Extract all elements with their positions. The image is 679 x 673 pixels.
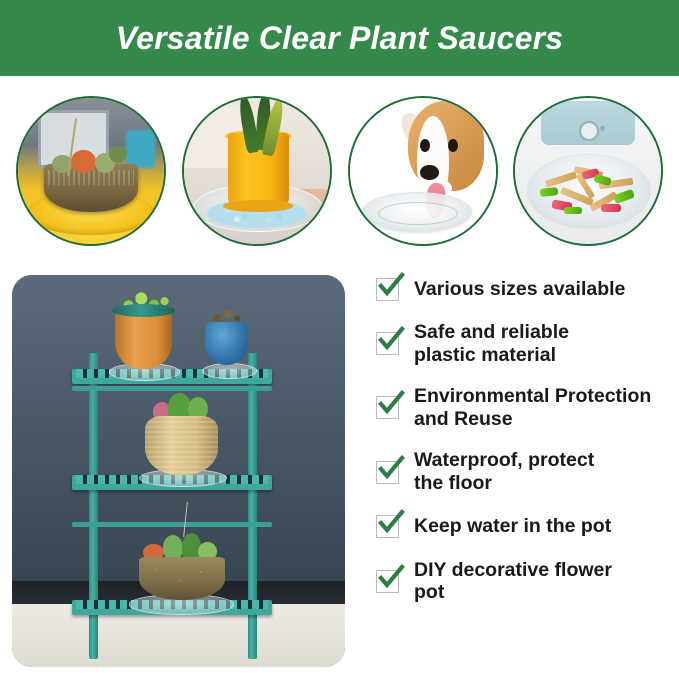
clear-saucer-shape — [362, 192, 472, 232]
checkmark-icon — [376, 396, 399, 419]
tan-pot-shape — [145, 416, 218, 475]
succulent-cluster — [50, 145, 132, 174]
feature-label: Keep water in the pot — [414, 515, 611, 538]
feature-label: DIY decorative flower pot — [414, 559, 612, 604]
pot-base-shape — [223, 200, 293, 212]
appliance-indicator-shape — [600, 126, 605, 131]
feature-label: Various sizes available — [414, 278, 625, 301]
checkmark-icon — [376, 332, 399, 355]
circle-photo-art — [184, 98, 330, 244]
page-title: Versatile Clear Plant Saucers — [116, 20, 564, 57]
plant-stand-rail — [72, 522, 272, 527]
header-banner: Versatile Clear Plant Saucers — [0, 0, 679, 76]
feature-item: Keep water in the pot — [376, 514, 676, 540]
feature-item: Environmental Protection and Reuse — [376, 385, 676, 430]
stone-bowl-shape — [139, 557, 226, 600]
circle-photo-strip — [0, 88, 679, 248]
feature-label: Safe and reliable plastic material — [414, 321, 569, 366]
main-product-photo — [12, 275, 345, 667]
checkmark-icon — [376, 515, 399, 538]
circle-photo-art — [18, 98, 164, 244]
clear-saucer-shape — [527, 154, 652, 229]
feature-list: Various sizes available Safe and reliabl… — [376, 276, 676, 623]
circle-photo-snack-tray — [513, 96, 663, 246]
dog-eye-shape — [448, 139, 458, 152]
circle-photo-yellow-pot — [182, 96, 332, 246]
circle-photo-succulent-bowl — [16, 96, 166, 246]
feature-item: Waterproof, protect the floor — [376, 449, 676, 494]
feature-item: Safe and reliable plastic material — [376, 321, 676, 366]
circle-photo-dog-drinking — [348, 96, 498, 246]
blue-pot-shape — [205, 322, 248, 365]
checkmark-icon — [376, 278, 399, 301]
feature-item: Various sizes available — [376, 276, 676, 302]
feature-label: Waterproof, protect the floor — [414, 449, 594, 494]
circle-photo-art — [350, 98, 496, 244]
dog-nose-shape — [420, 165, 439, 180]
feature-label: Environmental Protection and Reuse — [414, 385, 651, 430]
checkmark-icon — [376, 570, 399, 593]
circle-photo-art — [515, 98, 661, 244]
checkmark-icon — [376, 461, 399, 484]
feature-item: DIY decorative flower pot — [376, 559, 676, 604]
orange-pot-shape — [115, 310, 172, 369]
